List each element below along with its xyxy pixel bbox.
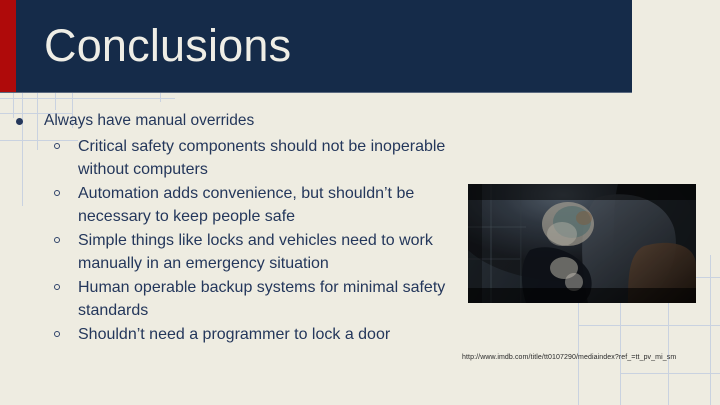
slide-title-band: Conclusions xyxy=(0,0,632,92)
page-title: Conclusions xyxy=(44,17,291,75)
bullet-item-level2: Shouldn’t need a programmer to lock a do… xyxy=(0,323,470,346)
bullet-circle-icon xyxy=(54,331,60,337)
bullet-text: Human operable backup systems for minima… xyxy=(78,276,470,322)
presentation-slide: Conclusions Always have manual overrides… xyxy=(0,0,720,405)
film-still-graphic xyxy=(468,184,696,303)
bullet-circle-icon xyxy=(54,237,60,243)
bullet-text: Simple things like locks and vehicles ne… xyxy=(78,229,470,275)
bullet-text: Shouldn’t need a programmer to lock a do… xyxy=(78,323,470,346)
bullet-item-level2: Human operable backup systems for minima… xyxy=(0,276,470,322)
slide-image xyxy=(468,184,696,303)
title-accent-bar xyxy=(0,0,16,92)
bullet-circle-icon xyxy=(54,284,60,290)
bullet-text: Automation adds convenience, but shouldn… xyxy=(78,182,470,228)
bullet-item-level2: Simple things like locks and vehicles ne… xyxy=(0,229,470,275)
bullet-disc-icon xyxy=(16,118,23,125)
image-source-caption: http://www.imdb.com/title/tt0107290/medi… xyxy=(462,353,676,363)
bullet-circle-icon xyxy=(54,190,60,196)
bullet-circle-icon xyxy=(54,143,60,149)
bullet-item-level2: Critical safety components should not be… xyxy=(0,135,470,181)
bullet-text: Critical safety components should not be… xyxy=(78,135,470,181)
bullet-text: Always have manual overrides xyxy=(44,110,470,132)
bullet-item-level1: Always have manual overrides xyxy=(0,110,470,132)
bullet-item-level2: Automation adds convenience, but shouldn… xyxy=(0,182,470,228)
slide-body: Always have manual overrides Critical sa… xyxy=(0,110,470,347)
